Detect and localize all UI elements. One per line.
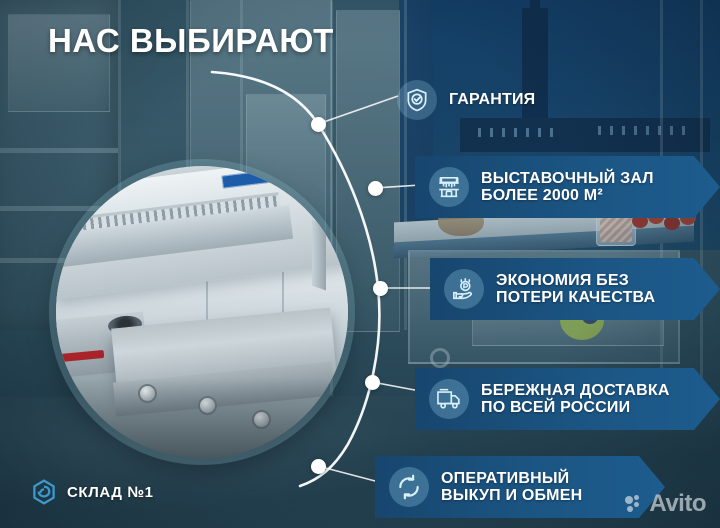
feature-buyback-label: ОПЕРАТИВНЫЙ ВЫКУП И ОБМЕН	[441, 470, 616, 504]
connector-node-2	[368, 181, 383, 196]
feature-delivery-label: БЕРЕЖНАЯ ДОСТАВКА ПО ВСЕЙ РОССИИ	[481, 382, 704, 416]
hero-photo-circle	[56, 166, 348, 458]
exchange-arrows-icon	[389, 467, 429, 507]
avito-wordmark: Avito	[649, 490, 706, 518]
brand-name: СКЛАД №1	[67, 484, 154, 501]
feature-savings-label: ЭКОНОМИЯ БЕЗ ПОТЕРИ КАЧЕСТВА	[496, 272, 689, 306]
connector-node-4	[365, 375, 380, 390]
feature-delivery[interactable]: БЕРЕЖНАЯ ДОСТАВКА ПО ВСЕЙ РОССИИ	[415, 368, 720, 430]
hand-ruble-icon	[444, 269, 484, 309]
shield-check-icon	[397, 80, 437, 120]
connector-node-1	[311, 117, 326, 132]
avito-dots-icon	[625, 495, 645, 513]
feature-savings[interactable]: ЭКОНОМИЯ БЕЗ ПОТЕРИ КАЧЕСТВА	[430, 258, 720, 320]
feature-buyback[interactable]: ОПЕРАТИВНЫЙ ВЫКУП И ОБМЕН	[375, 456, 665, 518]
hex-spiral-logo-icon	[30, 478, 58, 506]
delivery-truck-icon	[429, 379, 469, 419]
feature-showroom[interactable]: ВЫСТАВОЧНЫЙ ЗАЛ БОЛЕЕ 2000 М²	[415, 156, 720, 218]
feature-showroom-label: ВЫСТАВОЧНЫЙ ЗАЛ БОЛЕЕ 2000 М²	[481, 170, 688, 204]
avito-watermark: Avito	[625, 490, 706, 518]
connector-node-3	[373, 281, 388, 296]
kitchen-hood-photo	[56, 166, 348, 458]
page-title: НАС ВЫБИРАЮТ	[48, 22, 334, 60]
promo-banner-image: НАС ВЫБИРАЮТ ГАРАНТИЯ ВЫСТАВОЧНЫЙ ЗАЛ БО…	[0, 0, 720, 528]
brand-logo[interactable]: СКЛАД №1	[30, 478, 154, 506]
feature-guarantee-label: ГАРАНТИЯ	[449, 91, 569, 108]
feature-guarantee[interactable]: ГАРАНТИЯ	[383, 70, 563, 130]
connector-node-5	[311, 459, 326, 474]
display-shelf-icon	[429, 167, 469, 207]
